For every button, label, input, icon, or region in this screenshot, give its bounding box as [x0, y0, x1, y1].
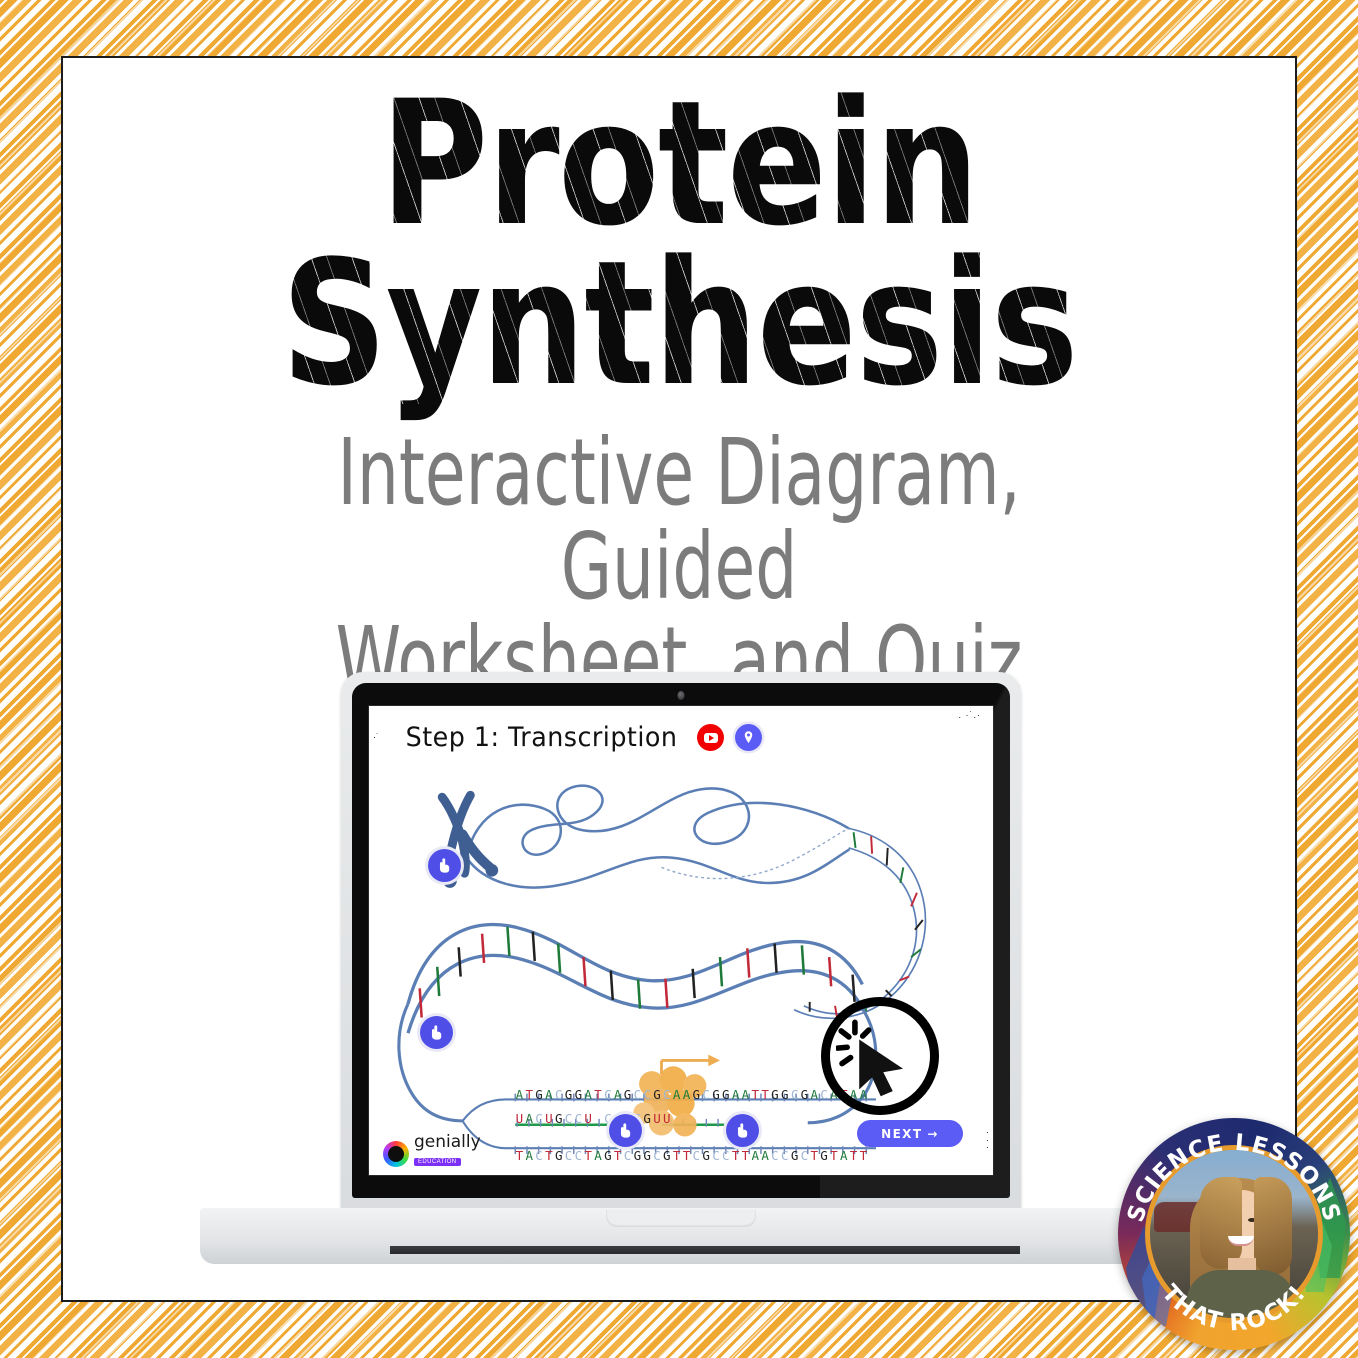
photo-hair-right — [1254, 1177, 1292, 1275]
title-block: Protein Synthesis Interactive Diagram, G… — [63, 84, 1295, 707]
laptop-hinge — [390, 1246, 1020, 1254]
laptop-mockup: . ·˙.· ·˙ ··· Step 1: Transcription — [200, 672, 1162, 1264]
genially-logo-icon — [383, 1141, 409, 1167]
white-content-panel: Protein Synthesis Interactive Diagram, G… — [61, 56, 1297, 1302]
click-cursor-icon — [821, 997, 939, 1115]
next-button-label: NEXT — [881, 1127, 922, 1141]
genially-branding[interactable]: genially EDUCATION — [383, 1134, 481, 1167]
genially-slide: . ·˙.· ·˙ ··· Step 1: Transcription — [368, 705, 994, 1176]
laptop-lid: . ·˙.· ·˙ ··· Step 1: Transcription — [341, 672, 1021, 1224]
photo-hair-left — [1200, 1177, 1242, 1269]
chromatin-loop — [467, 786, 849, 858]
next-button[interactable]: NEXT → — [857, 1120, 963, 1147]
condensed-dna-helix — [794, 828, 925, 1018]
title-line-1: Protein — [149, 84, 1209, 244]
hotspot-rna-polymerase[interactable] — [726, 1114, 759, 1147]
transition-strand — [662, 828, 849, 878]
genially-name: genially — [414, 1132, 481, 1152]
genially-education-tag: EDUCATION — [414, 1158, 461, 1166]
genially-wordmark: genially EDUCATION — [414, 1134, 481, 1167]
photo-shirt — [1186, 1270, 1296, 1323]
brand-badge: SCIENCE LESSONS THAT ROCK! — [1118, 1118, 1350, 1350]
rna-polymerase — [633, 1066, 706, 1136]
main-dna-helix — [408, 925, 864, 1034]
title-line-2: Synthesis — [149, 244, 1209, 404]
page-title: Protein Synthesis — [149, 84, 1209, 404]
subtitle-line-1: Interactive Diagram, Guided — [235, 426, 1122, 614]
badge-photo — [1145, 1145, 1323, 1323]
webcam-icon — [678, 691, 685, 700]
laptop-base — [200, 1208, 1162, 1264]
next-arrow-icon: → — [927, 1127, 938, 1141]
cover-image: Protein Synthesis Interactive Diagram, G… — [0, 0, 1358, 1358]
page-subtitle: Interactive Diagram, Guided Worksheet, a… — [235, 426, 1122, 707]
helix-rungs — [810, 832, 923, 1017]
diagram-stage: ATGACGGATCAGCCGCAAGCGGAATTGGCGACATAA UAC… — [369, 706, 993, 1175]
chromatin-loop-2 — [467, 850, 849, 888]
laptop-bezel: . ·˙.· ·˙ ··· Step 1: Transcription — [352, 683, 1010, 1198]
